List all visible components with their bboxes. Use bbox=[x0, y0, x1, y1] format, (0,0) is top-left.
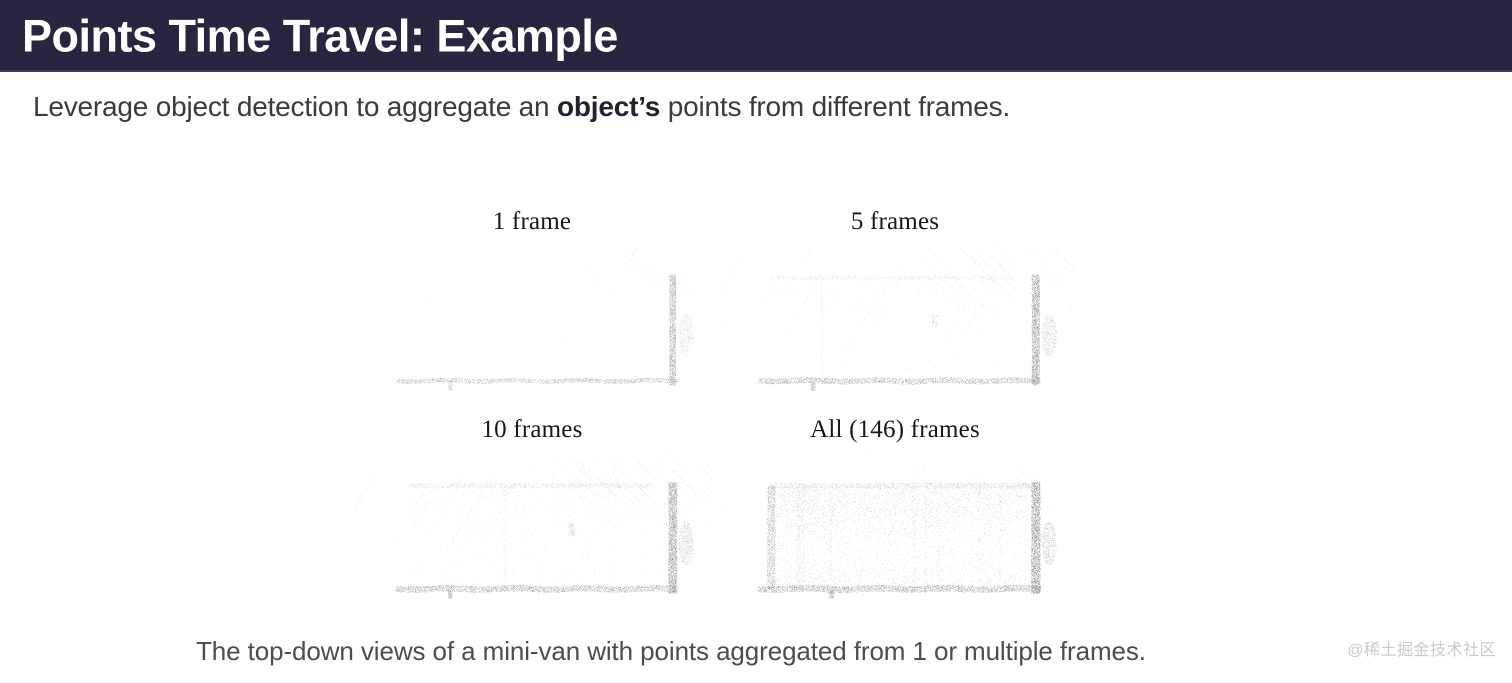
point-cloud-canvas bbox=[352, 242, 712, 408]
figure-caption: The top-down views of a mini-van with po… bbox=[196, 637, 1146, 667]
lead-sentence-emphasis: object’s bbox=[557, 91, 660, 122]
panel-label: 10 frames bbox=[352, 417, 712, 442]
lead-sentence: Leverage object detection to aggregate a… bbox=[33, 90, 1010, 124]
slide-header-bar: Points Time Travel: Example bbox=[0, 0, 1512, 72]
panel-label: 1 frame bbox=[352, 209, 712, 234]
page-title: Points Time Travel: Example bbox=[22, 14, 618, 59]
lead-sentence-suffix: points from different frames. bbox=[660, 91, 1010, 122]
panel-label: 5 frames bbox=[715, 209, 1075, 234]
point-cloud-canvas bbox=[715, 450, 1075, 616]
point-cloud-canvas bbox=[352, 450, 712, 616]
figure-panel-5-frames: 5 frames bbox=[715, 200, 1075, 408]
watermark: @稀土掘金技术社区 bbox=[1347, 643, 1496, 659]
figure-panel-1-frame: 1 frame bbox=[352, 200, 712, 408]
figure-panel-10-frames: 10 frames bbox=[352, 408, 712, 616]
panel-label: All (146) frames bbox=[715, 417, 1075, 442]
lead-sentence-prefix: Leverage object detection to aggregate a… bbox=[33, 91, 557, 122]
figure-panel-all-frames: All (146) frames bbox=[715, 408, 1075, 616]
point-cloud-figure-grid: 1 frame 5 frames 10 frames All (146) fra… bbox=[352, 200, 1088, 620]
point-cloud-canvas bbox=[715, 242, 1075, 408]
